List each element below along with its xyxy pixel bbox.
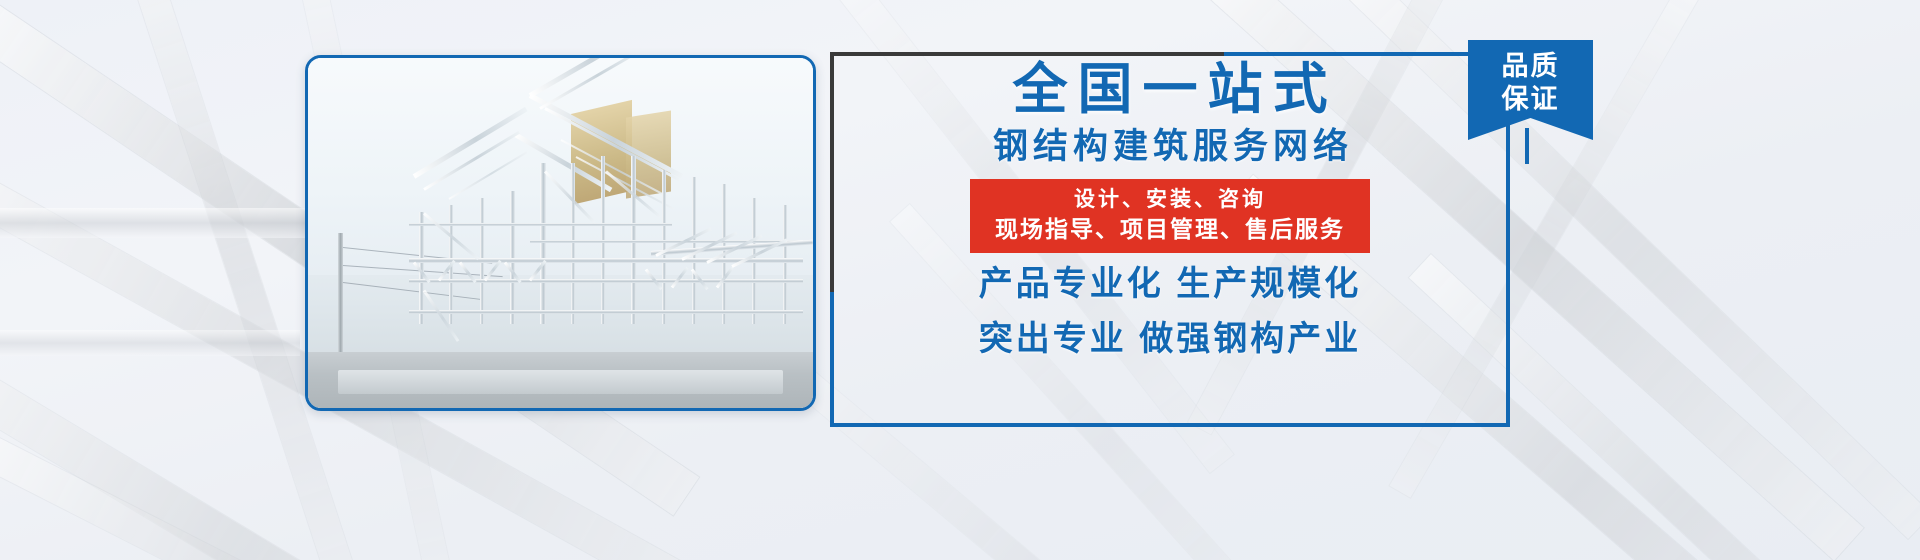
- promo-banner: 全国一站式 钢结构建筑服务网络 设计、安装、咨询 现场指导、项目管理、售后服务 …: [0, 0, 1920, 560]
- headline: 全国一站式: [1002, 60, 1337, 119]
- panel-content: 全国一站式 钢结构建筑服务网络 设计、安装、咨询 现场指导、项目管理、售后服务 …: [830, 52, 1510, 427]
- subheadline: 钢结构建筑服务网络: [987, 125, 1353, 169]
- badge-line-2: 保证: [1502, 83, 1560, 116]
- services-line-1: 设计、安装、咨询: [986, 186, 1354, 214]
- services-box: 设计、安装、咨询 现场指导、项目管理、售后服务: [970, 179, 1370, 253]
- slogan-2: 突出专业 做强钢构产业: [979, 317, 1361, 363]
- construction-photo: [305, 55, 816, 411]
- badge-tail: [1525, 128, 1529, 164]
- badge-line-1: 品质: [1502, 50, 1560, 83]
- content-frame: 全国一站式 钢结构建筑服务网络 设计、安装、咨询 现场指导、项目管理、售后服务 …: [830, 52, 1510, 427]
- services-line-2: 现场指导、项目管理、售后服务: [986, 214, 1354, 244]
- slogan-1: 产品专业化 生产规模化: [979, 262, 1361, 308]
